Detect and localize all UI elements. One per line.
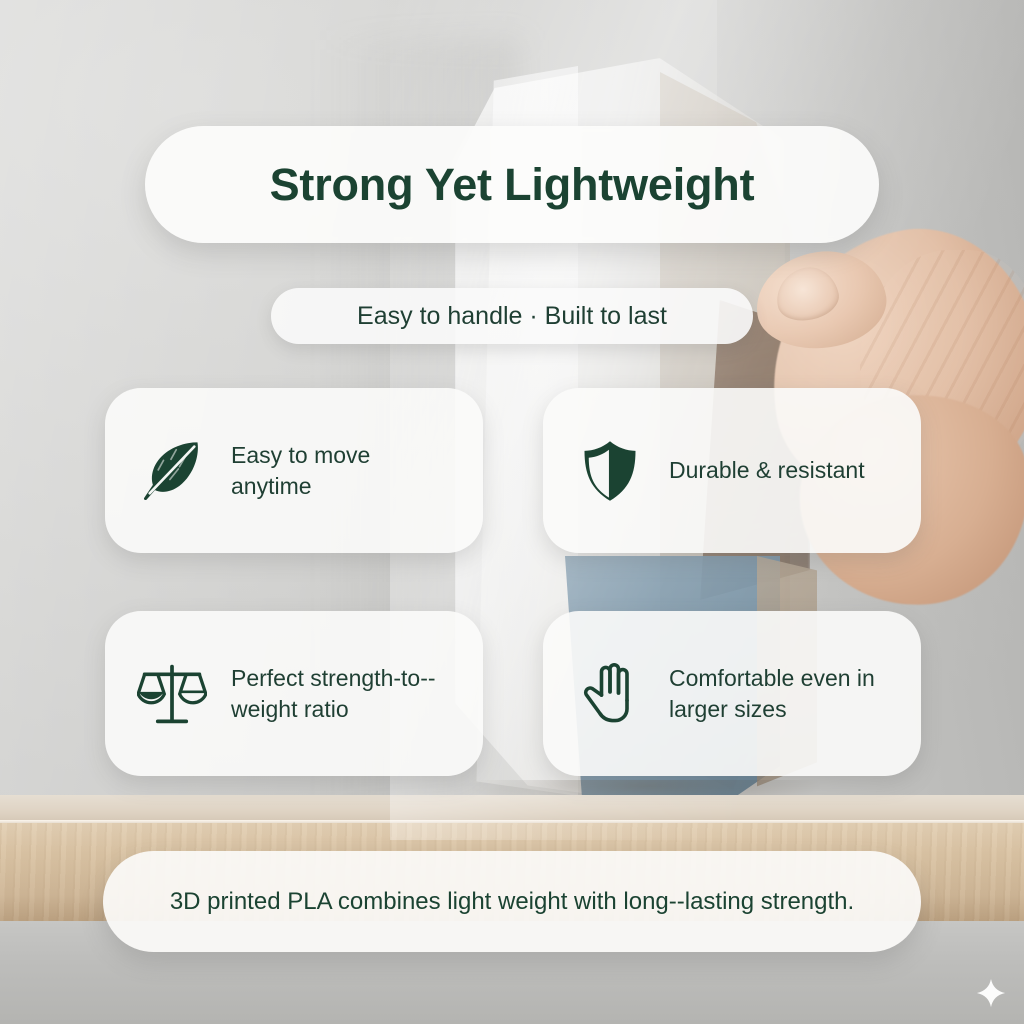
open-hand-icon <box>573 657 647 731</box>
feature-label: Easy to move anytime <box>231 440 457 501</box>
feature-label: Durable & resistant <box>669 455 865 485</box>
page-subtitle: Easy to handle · Built to last <box>357 302 667 331</box>
footer-caption: 3D printed PLA combines light weight wit… <box>170 885 854 918</box>
footer-caption-pill: 3D printed PLA combines light weight wit… <box>103 851 921 952</box>
shield-icon <box>573 434 647 508</box>
promo-graphic: Strong Yet Lightweight Easy to handle · … <box>0 0 1024 1024</box>
overlay-content: Strong Yet Lightweight Easy to handle · … <box>0 0 1024 1024</box>
feature-card-strength-to-weight[interactable]: Perfect strength-to--weight ratio <box>105 611 483 776</box>
title-pill: Strong Yet Lightweight <box>145 126 879 243</box>
feature-card-easy-to-move[interactable]: Easy to move anytime <box>105 388 483 553</box>
feather-icon <box>135 434 209 508</box>
feature-card-grid: Easy to move anytime Durable & resistant <box>105 388 921 776</box>
subtitle-pill: Easy to handle · Built to last <box>271 288 753 344</box>
page-title: Strong Yet Lightweight <box>270 159 755 211</box>
sparkle-icon <box>976 978 1006 1008</box>
feature-card-comfortable[interactable]: Comfortable even in larger sizes <box>543 611 921 776</box>
feature-card-durable[interactable]: Durable & resistant <box>543 388 921 553</box>
balance-scale-icon <box>135 657 209 731</box>
feature-label: Perfect strength-to--weight ratio <box>231 663 457 724</box>
feature-label: Comfortable even in larger sizes <box>669 663 895 724</box>
